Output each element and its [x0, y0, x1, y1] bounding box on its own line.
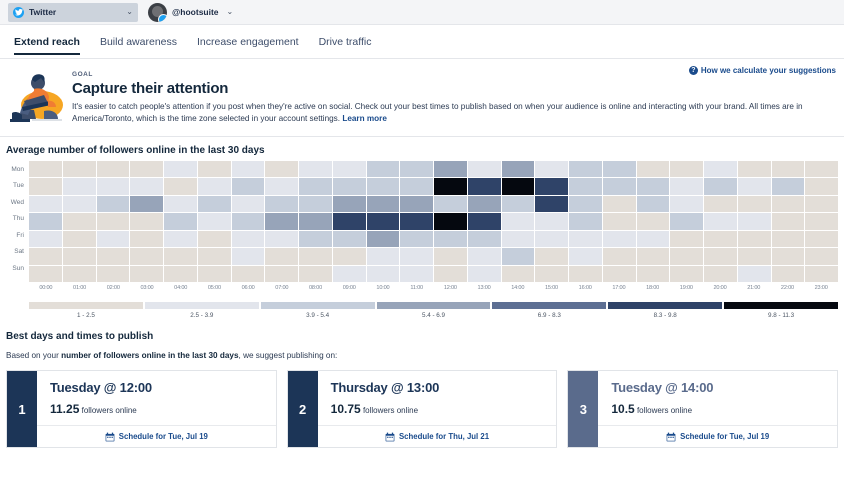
- heatmap-cell[interactable]: [434, 178, 467, 195]
- best-days-title: Best days and times to publish: [0, 319, 844, 342]
- heatmap-cell[interactable]: [738, 266, 771, 283]
- heatmap-hour-label: 00:00: [29, 285, 63, 291]
- heatmap-hour-label: 18:00: [636, 285, 670, 291]
- rank-badge: 3: [568, 371, 598, 447]
- heatmap-cell[interactable]: [535, 161, 568, 178]
- heatmap-day-label-thu: Thu: [0, 211, 29, 228]
- heatmap-hour-label: 21:00: [737, 285, 771, 291]
- subtitle-bold: number of followers online in the last 3…: [61, 351, 238, 360]
- heatmap-day-label-sun: Sun: [0, 261, 29, 278]
- heatmap-cell[interactable]: [232, 213, 265, 230]
- goal-description: It's easier to catch people's attention …: [72, 101, 830, 126]
- heatmap-cell[interactable]: [97, 266, 130, 283]
- heatmap-cell[interactable]: [603, 196, 636, 213]
- heatmap-hour-label: 01:00: [63, 285, 97, 291]
- heatmap-hour-label: 10:00: [366, 285, 400, 291]
- heatmap-cell[interactable]: [198, 213, 231, 230]
- heatmap-cell[interactable]: [670, 266, 703, 283]
- heatmap-legend: 1 - 2.52.5 - 3.93.9 - 5.45.4 - 6.96.9 - …: [29, 302, 838, 319]
- heatmap-cell[interactable]: [670, 178, 703, 195]
- heatmap-hour-label: 15:00: [535, 285, 569, 291]
- heatmap-cell[interactable]: [502, 266, 535, 283]
- heatmap-cell[interactable]: [63, 178, 96, 195]
- card-count-value: 10.5: [611, 402, 634, 416]
- heatmap-cell[interactable]: [772, 266, 805, 283]
- heatmap-cell[interactable]: [29, 196, 62, 213]
- heatmap-cell[interactable]: [535, 231, 568, 248]
- twitter-bird-icon: [13, 7, 24, 18]
- legend-label: 3.9 - 5.4: [261, 312, 375, 319]
- heatmap-cell[interactable]: [434, 196, 467, 213]
- heatmap-hour-label: 11:00: [400, 285, 434, 291]
- heatmap-cell[interactable]: [130, 248, 163, 265]
- heatmap-cell[interactable]: [333, 178, 366, 195]
- heatmap-cell[interactable]: [198, 266, 231, 283]
- heatmap-hour-label: 04:00: [164, 285, 198, 291]
- tab-drive-traffic[interactable]: Drive traffic: [319, 28, 372, 55]
- heatmap-cell[interactable]: [333, 213, 366, 230]
- legend-label: 1 - 2.5: [29, 312, 143, 319]
- heatmap-cell[interactable]: [333, 196, 366, 213]
- heatmap-hour-label: 02:00: [96, 285, 130, 291]
- best-days-subtitle: Based on your number of followers online…: [0, 342, 844, 360]
- heatmap-cell[interactable]: [434, 248, 467, 265]
- heatmap-cell[interactable]: [333, 248, 366, 265]
- heatmap-cell[interactable]: [502, 231, 535, 248]
- schedule-label: Schedule for Tue, Jul 19: [119, 432, 208, 441]
- legend-label: 6.9 - 8.3: [492, 312, 606, 319]
- heatmap-cell[interactable]: [805, 213, 838, 230]
- heatmap-cell[interactable]: [29, 161, 62, 178]
- heatmap-cell[interactable]: [434, 231, 467, 248]
- heatmap-cell[interactable]: [670, 196, 703, 213]
- calendar-icon: [105, 432, 115, 442]
- heatmap-cell[interactable]: [130, 196, 163, 213]
- heatmap-cell[interactable]: [299, 248, 332, 265]
- heatmap-cell[interactable]: [63, 266, 96, 283]
- heatmap-cell[interactable]: [738, 248, 771, 265]
- heatmap-cell[interactable]: [738, 213, 771, 230]
- account-selector[interactable]: @hootsuite ⌄: [148, 3, 233, 22]
- heatmap-cell[interactable]: [130, 161, 163, 178]
- heatmap-cell[interactable]: [637, 196, 670, 213]
- legend-item: 6.9 - 8.3: [492, 302, 606, 319]
- heatmap-cell[interactable]: [434, 266, 467, 283]
- card-count-label: followers online: [363, 406, 418, 415]
- heatmap: MonTueWedThuFriSatSun 00:0001:0002:0003:…: [0, 161, 844, 320]
- calendar-icon: [385, 432, 395, 442]
- heatmap-hour-label: 17:00: [602, 285, 636, 291]
- network-selector[interactable]: Twitter ⌄: [8, 3, 138, 22]
- heatmap-cell[interactable]: [805, 231, 838, 248]
- legend-swatch: [492, 302, 606, 309]
- card-count-label: followers online: [82, 406, 137, 415]
- heatmap-hour-axis: 00:0001:0002:0003:0004:0005:0006:0007:00…: [29, 285, 838, 291]
- heatmap-hour-label: 19:00: [669, 285, 703, 291]
- heatmap-cell[interactable]: [569, 266, 602, 283]
- heatmap-cell[interactable]: [704, 231, 737, 248]
- heatmap-cell[interactable]: [434, 161, 467, 178]
- heatmap-cell[interactable]: [164, 213, 197, 230]
- heatmap-cell[interactable]: [198, 248, 231, 265]
- heatmap-cell[interactable]: [738, 161, 771, 178]
- heatmap-cell[interactable]: [468, 213, 501, 230]
- best-time-card[interactable]: 2 Thursday @ 13:00 10.75 followers onlin…: [287, 370, 558, 448]
- heatmap-cell[interactable]: [367, 196, 400, 213]
- heatmap-cell[interactable]: [265, 213, 298, 230]
- heatmap-cell[interactable]: [569, 213, 602, 230]
- heatmap-cell[interactable]: [468, 178, 501, 195]
- tab-increase-engagement[interactable]: Increase engagement: [197, 28, 299, 55]
- heatmap-hour-label: 12:00: [433, 285, 467, 291]
- heatmap-cell[interactable]: [637, 266, 670, 283]
- legend-label: 8.3 - 9.8: [608, 312, 722, 319]
- heatmap-cell[interactable]: [772, 213, 805, 230]
- card-time: Tuesday @ 14:00: [611, 380, 837, 395]
- heatmap-hour-label: 06:00: [231, 285, 265, 291]
- heatmap-cell[interactable]: [265, 161, 298, 178]
- heatmap-cell[interactable]: [535, 196, 568, 213]
- heatmap-cell[interactable]: [367, 178, 400, 195]
- legend-item: 5.4 - 6.9: [377, 302, 491, 319]
- heatmap-cell[interactable]: [569, 161, 602, 178]
- calendar-icon: [666, 432, 676, 442]
- best-times-cards: 1 Tuesday @ 12:00 11.25 followers online…: [0, 360, 844, 448]
- heatmap-hour-label: 03:00: [130, 285, 164, 291]
- heatmap-cell[interactable]: [400, 266, 433, 283]
- heatmap-cell[interactable]: [772, 178, 805, 195]
- heatmap-cell[interactable]: [637, 248, 670, 265]
- heatmap-cell[interactable]: [603, 178, 636, 195]
- heatmap-cell[interactable]: [805, 248, 838, 265]
- heatmap-cell[interactable]: [502, 161, 535, 178]
- heatmap-cell[interactable]: [468, 231, 501, 248]
- heatmap-cell[interactable]: [400, 161, 433, 178]
- heatmap-cell[interactable]: [569, 248, 602, 265]
- chevron-down-icon[interactable]: ⌄: [227, 8, 234, 16]
- chevron-down-icon[interactable]: ⌄: [126, 8, 133, 16]
- heatmap-cell[interactable]: [772, 196, 805, 213]
- heatmap-cell[interactable]: [805, 196, 838, 213]
- heatmap-cell[interactable]: [97, 213, 130, 230]
- legend-swatch: [377, 302, 491, 309]
- how-we-calculate-label: How we calculate your suggestions: [701, 66, 836, 75]
- heatmap-cell[interactable]: [805, 161, 838, 178]
- heatmap-cell[interactable]: [603, 213, 636, 230]
- heatmap-cell[interactable]: [265, 231, 298, 248]
- heatmap-hour-label: 20:00: [703, 285, 737, 291]
- heatmap-day-labels: MonTueWedThuFriSatSun: [0, 161, 29, 283]
- heatmap-cell[interactable]: [670, 213, 703, 230]
- heatmap-cell[interactable]: [130, 231, 163, 248]
- heatmap-hour-label: 23:00: [804, 285, 838, 291]
- heatmap-cell[interactable]: [367, 231, 400, 248]
- heatmap-cell[interactable]: [299, 213, 332, 230]
- heatmap-cell[interactable]: [232, 196, 265, 213]
- card-time: Tuesday @ 12:00: [50, 380, 276, 395]
- heatmap-cell[interactable]: [97, 178, 130, 195]
- heatmap-cell[interactable]: [130, 266, 163, 283]
- heatmap-cell[interactable]: [772, 248, 805, 265]
- heatmap-cell[interactable]: [704, 213, 737, 230]
- heatmap-cell[interactable]: [637, 178, 670, 195]
- heatmap-cell[interactable]: [468, 248, 501, 265]
- heatmap-cell[interactable]: [400, 196, 433, 213]
- heatmap-cell[interactable]: [738, 231, 771, 248]
- legend-label: 2.5 - 3.9: [145, 312, 259, 319]
- heatmap-cell[interactable]: [367, 248, 400, 265]
- heatmap-day-label-mon: Mon: [0, 162, 29, 179]
- heatmap-cell[interactable]: [333, 231, 366, 248]
- goal-banner: GOAL Capture their attention It's easier…: [0, 59, 844, 137]
- heatmap-cell[interactable]: [400, 178, 433, 195]
- heatmap-cell[interactable]: [232, 231, 265, 248]
- legend-swatch: [724, 302, 838, 309]
- heatmap-hour-label: 05:00: [198, 285, 232, 291]
- heatmap-cell[interactable]: [704, 266, 737, 283]
- heatmap-cell[interactable]: [265, 266, 298, 283]
- heatmap-hour-label: 13:00: [467, 285, 501, 291]
- heatmap-cell[interactable]: [569, 231, 602, 248]
- heatmap-cell[interactable]: [704, 196, 737, 213]
- heatmap-cell[interactable]: [63, 161, 96, 178]
- heatmap-cell[interactable]: [299, 161, 332, 178]
- learn-more-link[interactable]: Learn more: [342, 114, 387, 123]
- heatmap-grid[interactable]: [29, 161, 838, 283]
- legend-swatch: [145, 302, 259, 309]
- heatmap-cell[interactable]: [805, 266, 838, 283]
- heatmap-cell[interactable]: [97, 161, 130, 178]
- heatmap-cell[interactable]: [434, 213, 467, 230]
- card-count: 10.75 followers online: [331, 402, 557, 416]
- heatmap-cell[interactable]: [400, 231, 433, 248]
- heatmap-cell[interactable]: [29, 248, 62, 265]
- heatmap-cell[interactable]: [805, 178, 838, 195]
- legend-item: 9.8 - 11.3: [724, 302, 838, 319]
- heatmap-cell[interactable]: [704, 161, 737, 178]
- heatmap-cell[interactable]: [670, 161, 703, 178]
- heatmap-cell[interactable]: [265, 178, 298, 195]
- heatmap-cell[interactable]: [265, 248, 298, 265]
- network-label: Twitter: [29, 7, 56, 17]
- heatmap-cell[interactable]: [164, 266, 197, 283]
- heatmap-cell[interactable]: [637, 161, 670, 178]
- heatmap-cell[interactable]: [97, 196, 130, 213]
- heatmap-hour-label: 08:00: [299, 285, 333, 291]
- legend-item: 1 - 2.5: [29, 302, 143, 319]
- heatmap-cell[interactable]: [232, 161, 265, 178]
- legend-item: 8.3 - 9.8: [608, 302, 722, 319]
- heatmap-cell[interactable]: [637, 213, 670, 230]
- card-count-label: followers online: [637, 406, 692, 415]
- heatmap-cell[interactable]: [468, 161, 501, 178]
- heatmap-cell[interactable]: [232, 178, 265, 195]
- card-count-value: 10.75: [331, 402, 361, 416]
- heatmap-cell[interactable]: [299, 266, 332, 283]
- heatmap-cell[interactable]: [535, 178, 568, 195]
- heatmap-cell[interactable]: [333, 266, 366, 283]
- best-time-card[interactable]: 1 Tuesday @ 12:00 11.25 followers online…: [6, 370, 277, 448]
- heatmap-cell[interactable]: [535, 248, 568, 265]
- heatmap-cell[interactable]: [232, 248, 265, 265]
- heatmap-cell[interactable]: [569, 178, 602, 195]
- heatmap-cell[interactable]: [367, 266, 400, 283]
- heatmap-cell[interactable]: [164, 231, 197, 248]
- heatmap-day-label-fri: Fri: [0, 228, 29, 245]
- heatmap-day-label-sat: Sat: [0, 244, 29, 261]
- schedule-button[interactable]: Schedule for Thu, Jul 21: [318, 425, 557, 447]
- heatmap-cell[interactable]: [232, 266, 265, 283]
- avatar: [148, 3, 167, 22]
- card-count: 11.25 followers online: [50, 402, 276, 416]
- heatmap-cell[interactable]: [164, 161, 197, 178]
- goal-title: Capture their attention: [72, 80, 830, 97]
- heatmap-day-label-wed: Wed: [0, 195, 29, 212]
- heatmap-cell[interactable]: [400, 248, 433, 265]
- person-with-laptop-illustration: [0, 69, 72, 126]
- card-count: 10.5 followers online: [611, 402, 837, 416]
- rank-badge: 2: [288, 371, 318, 447]
- card-time: Thursday @ 13:00: [331, 380, 557, 395]
- schedule-button[interactable]: Schedule for Tue, Jul 19: [598, 425, 837, 447]
- heatmap-cell[interactable]: [130, 213, 163, 230]
- heatmap-cell[interactable]: [265, 196, 298, 213]
- heatmap-cell[interactable]: [603, 248, 636, 265]
- schedule-label: Schedule for Tue, Jul 19: [680, 432, 769, 441]
- heatmap-cell[interactable]: [502, 196, 535, 213]
- heatmap-cell[interactable]: [198, 231, 231, 248]
- heatmap-cell[interactable]: [704, 178, 737, 195]
- heatmap-cell[interactable]: [468, 266, 501, 283]
- heatmap-cell[interactable]: [299, 196, 332, 213]
- heatmap-hour-label: 16:00: [568, 285, 602, 291]
- heatmap-cell[interactable]: [569, 196, 602, 213]
- subtitle-suffix: , we suggest publishing on:: [239, 351, 338, 360]
- subtitle-prefix: Based on your: [6, 351, 61, 360]
- heatmap-cell[interactable]: [333, 161, 366, 178]
- heatmap-cell[interactable]: [670, 248, 703, 265]
- heatmap-cell[interactable]: [772, 161, 805, 178]
- heatmap-day-label-tue: Tue: [0, 178, 29, 195]
- heatmap-cell[interactable]: [468, 196, 501, 213]
- heatmap-cell[interactable]: [198, 178, 231, 195]
- schedule-label: Schedule for Thu, Jul 21: [399, 432, 489, 441]
- heatmap-cell[interactable]: [603, 231, 636, 248]
- question-mark-icon: ?: [689, 66, 698, 75]
- heatmap-cell[interactable]: [502, 213, 535, 230]
- heatmap-cell[interactable]: [603, 266, 636, 283]
- heatmap-hour-label: 07:00: [265, 285, 299, 291]
- tab-build-awareness[interactable]: Build awareness: [100, 28, 177, 55]
- heatmap-hour-label: 22:00: [771, 285, 805, 291]
- card-count-value: 11.25: [50, 402, 79, 416]
- schedule-button[interactable]: Schedule for Tue, Jul 19: [37, 425, 276, 447]
- heatmap-cell[interactable]: [97, 231, 130, 248]
- how-we-calculate-link[interactable]: ? How we calculate your suggestions: [689, 66, 836, 75]
- heatmap-hour-label: 14:00: [501, 285, 535, 291]
- heatmap-cell[interactable]: [299, 178, 332, 195]
- heatmap-cell[interactable]: [130, 178, 163, 195]
- heatmap-cell[interactable]: [63, 213, 96, 230]
- heatmap-cell[interactable]: [603, 161, 636, 178]
- heatmap-cell[interactable]: [535, 266, 568, 283]
- heatmap-cell[interactable]: [670, 231, 703, 248]
- heatmap-cell[interactable]: [772, 231, 805, 248]
- goal-description-text: It's easier to catch people's attention …: [72, 102, 803, 123]
- heatmap-hour-label: 09:00: [332, 285, 366, 291]
- heatmap-cell[interactable]: [502, 178, 535, 195]
- heatmap-cell[interactable]: [164, 196, 197, 213]
- heatmap-cell[interactable]: [738, 196, 771, 213]
- heatmap-cell[interactable]: [63, 196, 96, 213]
- top-bar: Twitter ⌄ @hootsuite ⌄: [0, 0, 844, 25]
- heatmap-cell[interactable]: [164, 178, 197, 195]
- heatmap-cell[interactable]: [704, 248, 737, 265]
- rank-badge: 1: [7, 371, 37, 447]
- legend-item: 3.9 - 5.4: [261, 302, 375, 319]
- heatmap-cell[interactable]: [29, 266, 62, 283]
- heatmap-cell[interactable]: [502, 248, 535, 265]
- legend-item: 2.5 - 3.9: [145, 302, 259, 319]
- heatmap-title: Average number of followers online in th…: [0, 137, 844, 161]
- legend-swatch: [608, 302, 722, 309]
- heatmap-cell[interactable]: [164, 248, 197, 265]
- heatmap-cell[interactable]: [367, 161, 400, 178]
- legend-label: 5.4 - 6.9: [377, 312, 491, 319]
- heatmap-cell[interactable]: [637, 231, 670, 248]
- heatmap-cell[interactable]: [63, 248, 96, 265]
- heatmap-cell[interactable]: [29, 213, 62, 230]
- legend-swatch: [29, 302, 143, 309]
- best-time-card[interactable]: 3 Tuesday @ 14:00 10.5 followers online …: [567, 370, 838, 448]
- legend-label: 9.8 - 11.3: [724, 312, 838, 319]
- heatmap-cell[interactable]: [535, 213, 568, 230]
- heatmap-cell[interactable]: [738, 178, 771, 195]
- heatmap-cell[interactable]: [97, 248, 130, 265]
- goal-tabs: Extend reach Build awareness Increase en…: [0, 25, 844, 59]
- account-handle: @hootsuite: [172, 7, 219, 17]
- heatmap-cell[interactable]: [29, 178, 62, 195]
- heatmap-cell[interactable]: [198, 196, 231, 213]
- heatmap-cell[interactable]: [299, 231, 332, 248]
- heatmap-cell[interactable]: [367, 213, 400, 230]
- heatmap-cell[interactable]: [400, 213, 433, 230]
- heatmap-cell[interactable]: [29, 231, 62, 248]
- tab-extend-reach[interactable]: Extend reach: [14, 28, 80, 55]
- heatmap-cell[interactable]: [63, 231, 96, 248]
- heatmap-cell[interactable]: [198, 161, 231, 178]
- legend-swatch: [261, 302, 375, 309]
